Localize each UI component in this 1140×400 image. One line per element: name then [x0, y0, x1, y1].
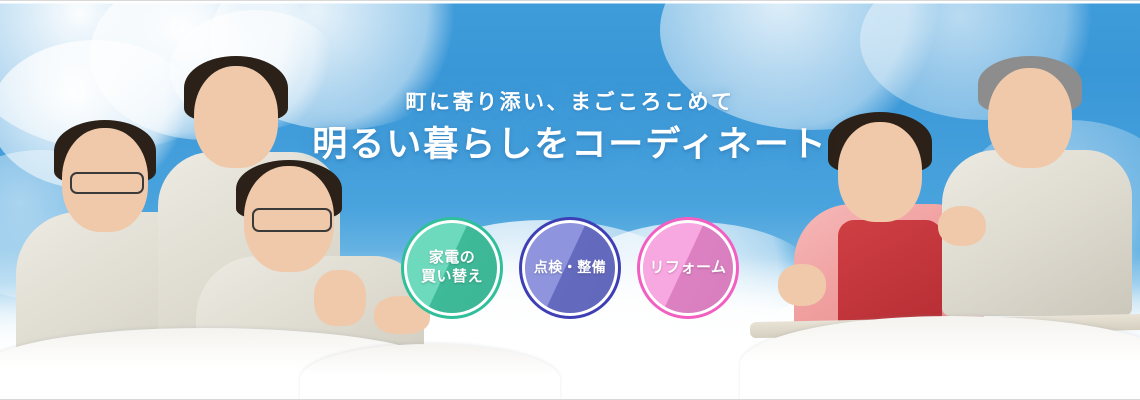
- service-badge-label: 家電の 買い替え: [421, 249, 483, 287]
- service-badge-label: 点検・整備: [534, 259, 607, 277]
- service-badge-reform[interactable]: リフォーム: [640, 220, 736, 316]
- frame-top-divider: [0, 0, 1140, 1]
- service-badge-group: 家電の 買い替え 点検・整備 リフォーム: [0, 220, 1140, 316]
- hero-banner: 町に寄り添い、まごころこめて 明るい暮らしをコーディネート 家電の 買い替え 点…: [0, 0, 1140, 400]
- hero-copy: 町に寄り添い、まごころこめて 明るい暮らしをコーディネート: [0, 92, 1140, 162]
- service-badge-kaden-kaikae[interactable]: 家電の 買い替え: [404, 220, 500, 316]
- hero-headline: 明るい暮らしをコーディネート: [0, 127, 1140, 162]
- service-badge-label: リフォーム: [649, 259, 726, 278]
- hero-subtitle: 町に寄り添い、まごころこめて: [0, 92, 1140, 113]
- service-badge-tenken-seibi[interactable]: 点検・整備: [522, 220, 618, 316]
